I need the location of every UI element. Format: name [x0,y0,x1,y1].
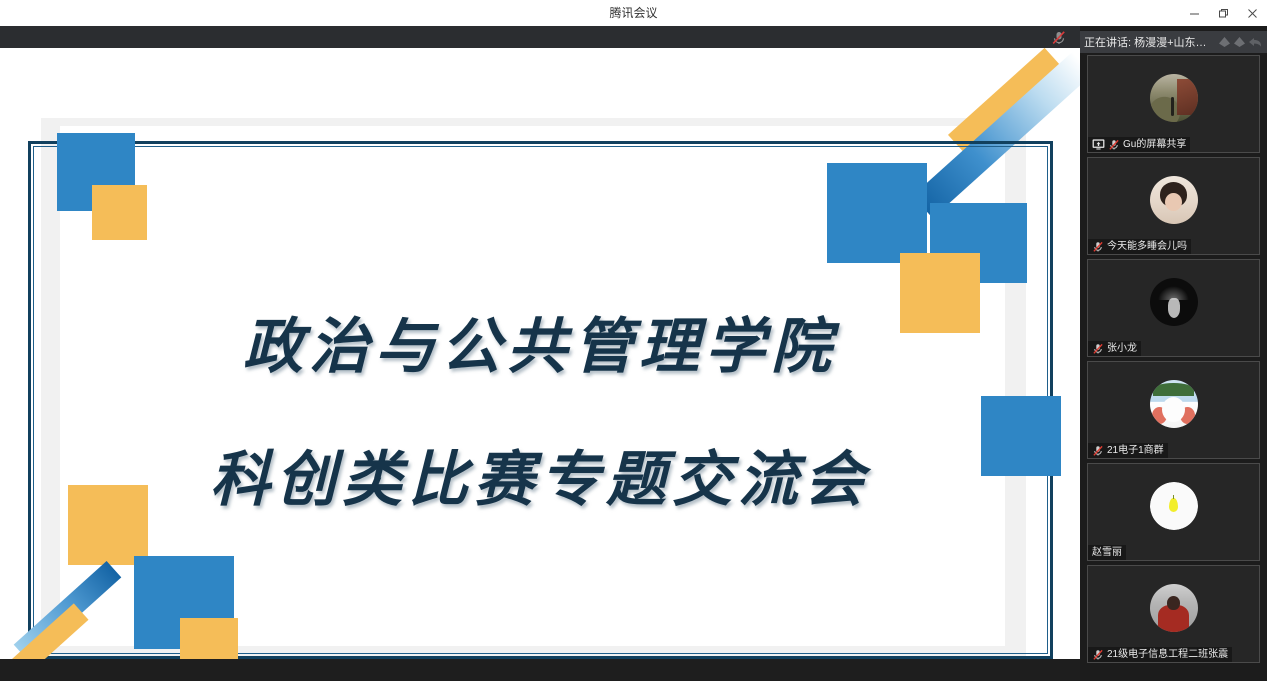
close-icon [1247,8,1258,19]
avatar [1150,176,1198,224]
close-button[interactable] [1238,0,1267,26]
mic-muted-icon [1092,343,1104,355]
mic-muted-icon [1092,649,1104,661]
participant-name-chip: 21级电子信息工程二班张震 [1088,647,1232,662]
participant-name: 21级电子信息工程二班张震 [1107,647,1228,662]
participant-name-chip: 21电子1商群 [1088,443,1168,458]
avatar [1150,482,1198,530]
speaking-banner: 正在讲话: 杨漫漫+山东青... [1080,31,1267,53]
mic-muted-icon [1108,139,1120,151]
title-bar: 腾讯会议 [0,0,1267,27]
participant-name: 今天能多睡会儿吗 [1107,239,1187,254]
tencent-meeting-window: 腾讯会议 [0,0,1267,681]
chevron-stack-icon[interactable] [1218,35,1231,49]
participant-name: 张小龙 [1107,341,1137,356]
participant-tile[interactable]: 张小龙 [1087,259,1260,357]
participant-name: Gu的屏幕共享 [1123,137,1186,152]
avatar [1150,380,1198,428]
slide-title-line-1: 政治与公共管理学院 [0,298,1080,385]
chevron-stack-icon[interactable] [1233,35,1246,49]
avatar [1150,74,1198,122]
mic-muted-icon [1050,30,1068,46]
participant-tile[interactable]: 21级电子信息工程二班张震 [1087,565,1260,663]
participant-name-chip: 今天能多睡会儿吗 [1088,239,1191,254]
presentation-slide: 政治与公共管理学院 科创类比赛专题交流会 [0,48,1080,659]
speaking-banner-icons [1218,35,1263,49]
participant-name-chip: 张小龙 [1088,341,1141,356]
yellow-square-bottom [180,618,238,659]
mic-muted-icon [1092,445,1104,457]
restore-icon [1218,8,1229,19]
blue-square-top-right-a [827,163,927,263]
avatar [1150,584,1198,632]
participant-tile[interactable]: 赵雪丽 [1087,463,1260,561]
yellow-square-top-left [92,185,147,240]
participant-tile[interactable]: 21电子1商群 [1087,361,1260,459]
top-dark-strip [0,26,1267,48]
shared-screen-area[interactable]: 政治与公共管理学院 科创类比赛专题交流会 Gu的屏幕共享 [0,48,1080,659]
participant-name-chip: 赵雪丽 [1088,545,1126,560]
participant-name: 21电子1商群 [1107,443,1164,458]
top-mic-muted-button[interactable] [1050,30,1068,46]
restore-button[interactable] [1209,0,1238,26]
slide-title-line-2: 科创类比赛专题交流会 [0,431,1080,518]
participant-name: 赵雪丽 [1092,545,1122,560]
participant-name-chip: Gu的屏幕共享 [1088,137,1190,152]
return-arrow-icon[interactable] [1248,35,1263,49]
speaking-label: 正在讲话: 杨漫漫+山东青... [1084,34,1215,50]
participant-tile[interactable]: 今天能多睡会儿吗 [1087,157,1260,255]
minimize-button[interactable] [1180,0,1209,26]
screen-share-icon [1092,139,1105,150]
avatar [1150,278,1198,326]
mic-muted-icon [1092,241,1104,253]
minimize-icon [1189,8,1200,19]
participant-tile[interactable]: Gu的屏幕共享 [1087,55,1260,153]
window-title: 腾讯会议 [0,0,1267,26]
